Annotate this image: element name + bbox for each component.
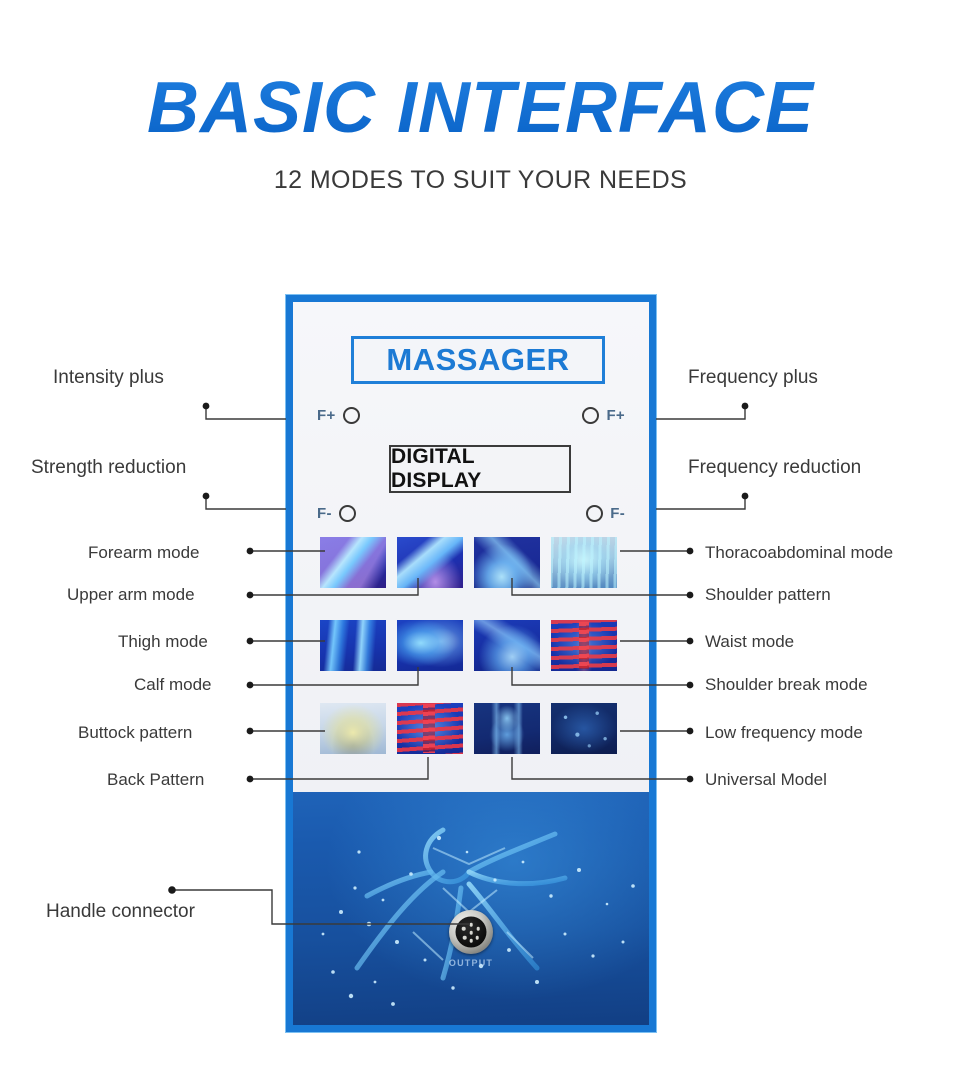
digital-display: DIGITAL DISPLAY (389, 445, 571, 493)
callout-shoulder-pattern: Shoulder pattern (705, 586, 831, 603)
frequency-minus-button[interactable]: F- (586, 505, 625, 522)
leader-dot-buttock-pattern (247, 728, 254, 735)
mode-thumbnail-calf[interactable] (397, 620, 463, 671)
leader-dot-low-frequency-mode (687, 728, 694, 735)
leader-dot-back-pattern (247, 776, 254, 783)
mode-thumbnail-low-frequency[interactable] (551, 703, 617, 754)
callout-forearm-mode: Forearm mode (88, 544, 199, 561)
callout-thoracoabdominal-mode: Thoracoabdominal mode (705, 544, 893, 561)
mode-thumbnail-universal[interactable] (474, 703, 540, 754)
mode-grid (320, 537, 620, 754)
header: BASIC INTERFACE 12 MODES TO SUIT YOUR NE… (0, 0, 961, 195)
callout-shoulder-break-mode: Shoulder break mode (705, 676, 868, 693)
upper-arm-mode-icon (397, 537, 463, 588)
callout-handle-connector: Handle connector (46, 902, 195, 921)
mode-thumbnail-thigh[interactable] (320, 620, 386, 671)
callout-thigh-mode: Thigh mode (118, 633, 208, 650)
particle-human-figure (293, 792, 649, 1025)
callout-waist-mode: Waist mode (705, 633, 794, 650)
leader-dot-thoracoabdominal-mode (687, 548, 694, 555)
intensity-plus-label: F+ (317, 407, 336, 424)
calf-mode-icon (397, 620, 463, 671)
leader-frequency-reduction (656, 496, 745, 509)
leader-dot-waist-mode (687, 638, 694, 645)
page-subtitle: 12 MODES TO SUIT YOUR NEEDS (0, 144, 961, 195)
brand-box: MASSAGER (351, 336, 605, 384)
leader-dot-calf-mode (247, 682, 254, 689)
leader-strength-reduction (206, 496, 286, 509)
mode-thumbnail-waist[interactable] (551, 620, 617, 671)
leader-dot-frequency-reduction (742, 493, 749, 500)
mode-thumbnail-upper-arm[interactable] (397, 537, 463, 588)
callout-low-frequency-mode: Low frequency mode (705, 724, 863, 741)
mode-thumbnail-forearm[interactable] (320, 537, 386, 588)
mode-thumbnail-buttock[interactable] (320, 703, 386, 754)
intensity-minus-button[interactable]: F- (317, 505, 356, 522)
low-frequency-mode-icon (551, 703, 617, 754)
connector-socket (456, 917, 487, 948)
leader-dot-shoulder-pattern (687, 592, 694, 599)
universal-model-icon (474, 703, 540, 754)
callout-upper-arm-mode: Upper arm mode (67, 586, 195, 603)
intensity-plus-button[interactable]: F+ (317, 407, 360, 424)
callout-calf-mode: Calf mode (134, 676, 211, 693)
callout-frequency-reduction: Frequency reduction (688, 458, 861, 477)
handle-connector-port[interactable] (449, 910, 493, 954)
mode-thumbnail-shoulder-break[interactable] (474, 620, 540, 671)
callout-strength-reduction: Strength reduction (31, 458, 186, 477)
mode-thumbnail-shoulder[interactable] (474, 537, 540, 588)
back-pattern-icon (397, 703, 463, 754)
leader-dot-forearm-mode (247, 548, 254, 555)
massager-device: MASSAGER F+ F+ DIGITAL DISPLAY F- F- (286, 295, 656, 1032)
leader-dot-strength-reduction (203, 493, 210, 500)
waist-mode-icon (551, 620, 617, 671)
shoulder-pattern-icon (474, 537, 540, 588)
brand-label: MASSAGER (386, 342, 569, 378)
leader-dot-upper-arm-mode (247, 592, 254, 599)
shoulder-break-mode-icon (474, 620, 540, 671)
mode-thumbnail-back[interactable] (397, 703, 463, 754)
leader-dot-handle-connector (168, 886, 176, 894)
thoracoabdominal-mode-icon (551, 537, 617, 588)
page-title: BASIC INTERFACE (0, 0, 961, 144)
leader-dot-shoulder-break-mode (687, 682, 694, 689)
device-front-face: MASSAGER F+ F+ DIGITAL DISPLAY F- F- (293, 302, 649, 1025)
forearm-mode-icon (320, 537, 386, 588)
callout-frequency-plus: Frequency plus (688, 368, 818, 387)
callout-universal-model: Universal Model (705, 771, 827, 788)
circle-icon (582, 407, 599, 424)
frequency-plus-label: F+ (606, 407, 625, 424)
device-bottom-graphic: OUTPUT (293, 792, 649, 1025)
callout-intensity-plus: Intensity plus (53, 368, 164, 387)
mode-thumbnail-thoracoabdominal[interactable] (551, 537, 617, 588)
leader-dot-intensity-plus (203, 403, 210, 410)
thigh-mode-icon (320, 620, 386, 671)
leader-dot-universal-model (687, 776, 694, 783)
frequency-plus-button[interactable]: F+ (582, 407, 625, 424)
callout-back-pattern: Back Pattern (107, 771, 204, 788)
connector-port-label: OUTPUT (449, 958, 493, 968)
intensity-minus-label: F- (317, 505, 332, 522)
callout-buttock-pattern: Buttock pattern (78, 724, 192, 741)
digital-display-label: DIGITAL DISPLAY (391, 445, 569, 493)
leader-dot-thigh-mode (247, 638, 254, 645)
circle-icon (339, 505, 356, 522)
leader-dot-frequency-plus (742, 403, 749, 410)
buttock-pattern-icon (320, 703, 386, 754)
circle-icon (586, 505, 603, 522)
frequency-minus-label: F- (610, 505, 625, 522)
circle-icon (343, 407, 360, 424)
leader-frequency-plus (656, 406, 745, 419)
leader-intensity-plus (206, 406, 286, 419)
